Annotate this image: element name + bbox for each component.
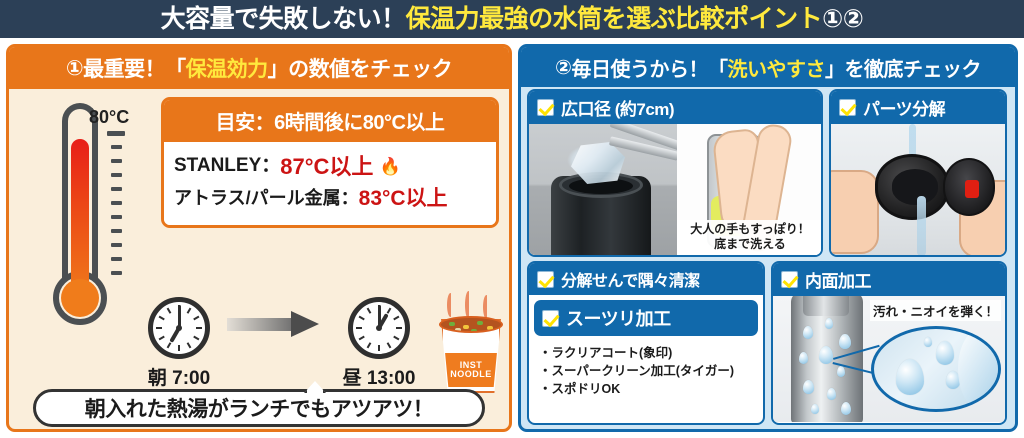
temperature-card: 目安：6時間後に80°C以上 STANLEY： 87°C以上 🔥 アトラス/パー… (161, 97, 499, 228)
card-inner-coating-title: 内面加工 (805, 267, 871, 292)
coating-bullet-list: ・ラクリアコート(象印) ・スーパークリーン加工(タイガー) ・スポドリOK (529, 336, 763, 402)
card-wide-mouth-header: 広口径 (約7cm) (529, 91, 821, 124)
illustration-water-repellent: 汚れ・ニオイを弾く！ (773, 296, 1005, 422)
summary-bubble-text: 朝入れた熱湯がランチでもアツアツ！ (85, 393, 434, 423)
panel-insulation-header: ① 最重要！「保温効力」の数値をチェック (9, 47, 509, 89)
check-box-icon (542, 310, 559, 327)
panel-washability: ② 毎日使うから！「洗いやすさ」を徹底チェック 広口径 (約7cm) (518, 44, 1018, 432)
list-item: ・スポドリOK (539, 380, 759, 398)
panel-header-text-a: 毎日使うから！「 (571, 53, 727, 82)
caption-line-1: 大人の手もすっぽり！ (677, 222, 823, 237)
card-inner-coating-header: 内面加工 (773, 263, 1005, 296)
temperature-card-header: 目安：6時間後に80°C以上 (164, 100, 496, 142)
panel-washability-header: ② 毎日使うから！「洗いやすさ」を徹底チェック (521, 47, 1015, 87)
panel-header-highlight: 洗いやすさ (727, 53, 825, 82)
card-parts-header: パーツ分解 (831, 91, 1005, 124)
cup-noodle-icon: INST NOODLE (435, 291, 507, 395)
card-coating-title: スーツリ加工 (566, 305, 671, 331)
timeline-row: 朝 7:00 （熱湯） (139, 287, 512, 399)
panel-washability-body: 広口径 (約7cm) (521, 87, 1015, 432)
noon-time: 昼 13:00 (329, 363, 429, 390)
check-box-icon (781, 271, 798, 288)
arrow-right-icon (227, 311, 325, 337)
magnifier-oval (871, 326, 1001, 412)
brand-value: 87°C以上 (280, 150, 373, 183)
card-inner-coating-caption: 汚れ・ニオイを弾く！ (870, 300, 1001, 321)
card-wide-mouth-images: 大人の手もすっぽり！ 底まで洗える (529, 124, 821, 257)
panel-header-text-b: 」を徹底チェック (825, 53, 981, 82)
card-wide-mouth: 広口径 (約7cm) (527, 89, 823, 257)
title-highlight: 保温力最強の水筒を選ぶ比較ポイント (406, 5, 823, 33)
table-row: STANLEY： 87°C以上 🔥 (174, 150, 486, 183)
morning-time: 朝 7:00 (139, 363, 219, 390)
thermometer-ticks (107, 131, 129, 281)
thermometer-icon (49, 103, 111, 331)
list-item: ・ラクリアコート(象印) (539, 344, 759, 362)
check-box-icon (537, 99, 554, 116)
card-inner-coating: 内面加工 (771, 261, 1007, 425)
card-easy-clean-body: スーツリ加工 ・ラクリアコート(象印) ・スーパークリーン加工(タイガー) ・ス… (529, 300, 763, 402)
cup-noodle-label: INST NOODLE (444, 353, 498, 387)
flame-icon: 🔥 (379, 154, 400, 180)
table-row: アトラス/パール金属： 83°C以上 (174, 183, 486, 215)
panel-header-highlight: 保温効力 (186, 53, 268, 83)
panel-insulation: ① 最重要！「保温効力」の数値をチェック (6, 44, 512, 432)
card-wide-mouth-caption: 大人の手もすっぽり！ 底まで洗える (677, 220, 823, 255)
photo-washing-lid-parts (831, 124, 1005, 257)
card-easy-clean-header: 分解せんで隅々清潔 (529, 263, 763, 295)
panel-header-text-b: 」の数値をチェック (268, 53, 453, 83)
card-easy-clean: 分解せんで隅々清潔 スーツリ加工 ・ラクリアコート(象印) ・スーパークリーン加… (527, 261, 765, 425)
summary-bubble: 朝入れた熱湯がランチでもアツアツ！ (33, 389, 485, 427)
card-parts-disassembly: パーツ分解 (829, 89, 1007, 257)
photo-ice-into-bottle (529, 124, 677, 257)
cup-label-line2: NOODLE (450, 370, 492, 379)
thermometer-label: 80°C (89, 107, 129, 128)
infographic-page: 大容量で失敗しない！保温力最強の水筒を選ぶ比較ポイント①② ① 最重要！「保温効… (0, 0, 1024, 438)
panel-header-text-a: 最重要！「 (83, 53, 186, 83)
panel-number: ② (555, 55, 571, 80)
clock-icon-morning (148, 297, 210, 359)
list-item: ・スーパークリーン加工(タイガー) (539, 362, 759, 380)
brand-value: 83°C以上 (359, 183, 448, 215)
card-easy-clean-title: 分解せんで隅々清潔 (561, 267, 700, 291)
title-part-3: ①② (822, 5, 863, 33)
card-parts-title: パーツ分解 (863, 95, 945, 120)
page-header: 大容量で失敗しない！保温力最強の水筒を選ぶ比較ポイント①② (0, 0, 1024, 38)
temperature-rows: STANLEY： 87°C以上 🔥 アトラス/パール金属： 83°C以上 (164, 142, 496, 225)
brand-label: STANLEY： (174, 152, 280, 181)
check-box-icon (537, 271, 554, 288)
panel-number: ① (66, 56, 83, 81)
page-title: 大容量で失敗しない！保温力最強の水筒を選ぶ比較ポイント①② (161, 7, 864, 32)
caption-line-2: 底まで洗える (677, 237, 823, 252)
clock-icon-noon (348, 297, 410, 359)
panel-insulation-body: 80°C 目安：6時間後に80°C以上 STANLEY： 87°C以上 🔥 アト… (9, 89, 509, 432)
check-box-icon (839, 99, 856, 116)
card-wide-mouth-title: 広口径 (約7cm) (561, 95, 674, 120)
title-part-1: 大容量で失敗しない！ (161, 5, 406, 33)
card-coating-subheader: スーツリ加工 (534, 300, 758, 336)
brand-label: アトラス/パール金属： (174, 185, 359, 212)
